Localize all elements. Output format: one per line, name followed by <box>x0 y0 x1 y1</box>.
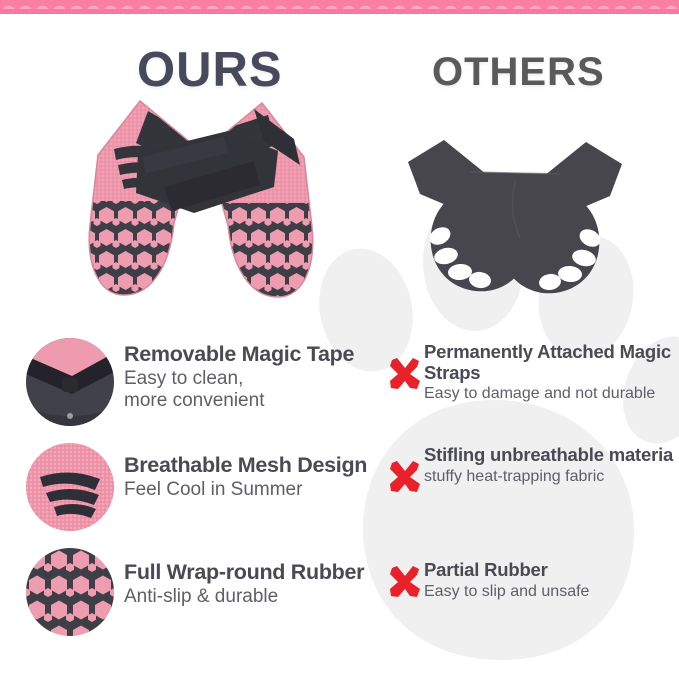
red-x-icon <box>386 564 424 602</box>
red-x-icon <box>386 459 424 497</box>
comparison-list: Removable Magic Tape Easy to clean, more… <box>0 330 679 645</box>
ours-feature-3: Full Wrap-round Rubber Anti-slip & durab… <box>24 540 394 645</box>
title-others: OTHERS <box>432 52 605 92</box>
others-feature-text: Stifling unbreathable materia stuffy hea… <box>424 445 674 486</box>
mesh-knit-closeup-icon <box>26 443 114 531</box>
ours-feature-1: Removable Magic Tape Easy to clean, more… <box>24 330 394 435</box>
magic-tape-closeup-icon <box>26 338 114 426</box>
comparison-row: Removable Magic Tape Easy to clean, more… <box>0 330 679 435</box>
ours-feature-2: Breathable Mesh Design Feel Cool in Summ… <box>24 435 394 540</box>
top-decorative-bar <box>0 0 679 14</box>
ours-feature-subtitle: Anti-slip & durable <box>124 586 394 608</box>
others-feature-title: Partial Rubber <box>424 560 674 581</box>
title-ours: OURS <box>137 46 283 95</box>
ours-feature-subtitle: Easy to clean, more convenient <box>124 368 394 413</box>
ours-feature-title: Breathable Mesh Design <box>124 453 394 477</box>
others-feature-text: Partial Rubber Easy to slip and unsafe <box>424 560 674 601</box>
red-x-icon <box>386 356 424 394</box>
honeycomb-rubber-closeup-icon <box>26 548 114 636</box>
others-feature-subtitle: Easy to damage and not durable <box>424 384 674 403</box>
others-feature-2: Stifling unbreathable materia stuffy hea… <box>386 435 671 540</box>
others-feature-title: Stifling unbreathable materia <box>424 445 674 466</box>
ours-feature-text: Removable Magic Tape Easy to clean, more… <box>124 342 394 413</box>
product-image-ours <box>78 95 328 315</box>
others-feature-subtitle: stuffy heat-trapping fabric <box>424 467 674 486</box>
scallop-pattern <box>0 0 679 9</box>
others-feature-subtitle: Easy to slip and unsafe <box>424 582 674 601</box>
others-feature-3: Partial Rubber Easy to slip and unsafe <box>386 540 671 645</box>
bar-underline <box>0 9 679 14</box>
others-feature-1: Permanently Attached Magic Straps Easy t… <box>386 330 671 435</box>
ours-feature-text: Full Wrap-round Rubber Anti-slip & durab… <box>124 560 394 608</box>
comparison-row: Breathable Mesh Design Feel Cool in Summ… <box>0 435 679 540</box>
column-titles: OURS OTHERS <box>0 26 679 88</box>
ours-feature-subtitle: Feel Cool in Summer <box>124 479 394 501</box>
ours-feature-title: Full Wrap-round Rubber <box>124 560 394 584</box>
others-feature-title: Permanently Attached Magic Straps <box>424 342 674 383</box>
ours-feature-title: Removable Magic Tape <box>124 342 394 366</box>
others-feature-text: Permanently Attached Magic Straps Easy t… <box>424 342 674 404</box>
comparison-row: Full Wrap-round Rubber Anti-slip & durab… <box>0 540 679 645</box>
product-image-others <box>400 120 630 310</box>
ours-feature-text: Breathable Mesh Design Feel Cool in Summ… <box>124 453 394 501</box>
